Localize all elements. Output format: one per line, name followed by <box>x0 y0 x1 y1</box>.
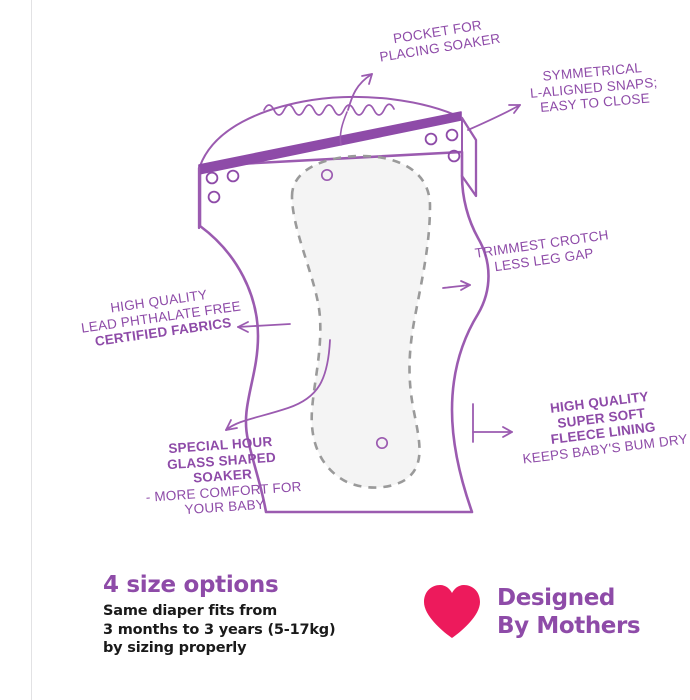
brand-line-1: Designed <box>497 584 640 612</box>
size-options-detail-line-1: Same diaper fits from <box>103 602 335 621</box>
heart-icon <box>421 583 483 641</box>
soaker-pad-fill <box>292 156 430 488</box>
snap-left-2 <box>228 171 239 182</box>
snap-left-1 <box>207 173 218 184</box>
size-options-block: 4 size options Same diaper fits from 3 m… <box>103 572 335 658</box>
leader-crotch <box>443 281 470 290</box>
leader-snaps <box>468 105 520 130</box>
leader-fabrics <box>238 322 290 332</box>
brand-line-2: By Mothers <box>497 612 640 640</box>
diaper-back-panel-curve <box>200 97 462 166</box>
callout-soaker: SPECIAL HOUR GLASS SHAPED SOAKER - MORE … <box>142 432 303 520</box>
brand-text: Designed By Mothers <box>497 584 640 640</box>
size-options-headline: 4 size options <box>103 572 335 599</box>
snap-right-1 <box>426 134 437 145</box>
size-options-detail: Same diaper fits from 3 months to 3 year… <box>103 602 335 658</box>
size-options-detail-line-3: by sizing properly <box>103 639 335 658</box>
diaper-feature-infographic: POCKET FOR PLACING SOAKER SYMMETRICAL L-… <box>0 0 690 700</box>
leader-fleece <box>473 404 512 442</box>
brand-lockup: Designed By Mothers <box>421 583 640 641</box>
snap-left-3 <box>209 192 220 203</box>
snap-right-2 <box>447 130 458 141</box>
size-options-detail-line-2: 3 months to 3 years (5-17kg) <box>103 621 335 640</box>
